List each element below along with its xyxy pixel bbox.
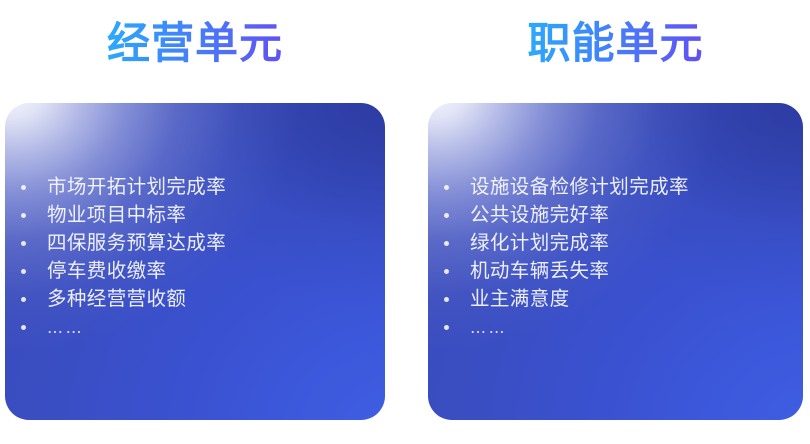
slide-canvas: 经营单元 市场开拓计划完成率 物业项目中标率 四保服务预算达成率 停车费: [0, 0, 810, 444]
card-business-unit: 市场开拓计划完成率 物业项目中标率 四保服务预算达成率 停车费收缴率 多种经营营: [5, 103, 385, 420]
bullet-dot-icon: [21, 325, 26, 330]
bullet-dot-icon: [21, 241, 26, 246]
list-item: 物业项目中标率: [21, 201, 375, 229]
metric-list-business-unit: 市场开拓计划完成率 物业项目中标率 四保服务预算达成率 停车费收缴率 多种经营营: [21, 173, 375, 341]
list-item: 机动车辆丢失率: [444, 257, 793, 285]
metric-label: 市场开拓计划完成率: [47, 173, 226, 201]
bullet-dot-icon: [444, 241, 449, 246]
metric-label: 停车费收缴率: [47, 257, 166, 285]
panel-business-unit: 经营单元 市场开拓计划完成率 物业项目中标率 四保服务预算达成率 停车费: [5, 0, 385, 444]
list-item: 四保服务预算达成率: [21, 229, 375, 257]
list-item-more: ……: [21, 313, 375, 341]
metric-label-more: ……: [47, 314, 84, 342]
bullet-dot-icon: [21, 185, 26, 190]
list-item: 业主满意度: [444, 285, 793, 313]
metric-label: 机动车辆丢失率: [470, 257, 609, 285]
bullet-dot-icon: [21, 297, 26, 302]
list-item: 绿化计划完成率: [444, 229, 793, 257]
metric-label: 公共设施完好率: [470, 201, 609, 229]
list-item: 市场开拓计划完成率: [21, 173, 375, 201]
metric-label: 物业项目中标率: [47, 201, 186, 229]
metric-label: 绿化计划完成率: [470, 229, 609, 257]
card-functional-unit: 设施设备检修计划完成率 公共设施完好率 绿化计划完成率 机动车辆丢失率 业主满意: [428, 103, 803, 420]
metric-label-more: ……: [470, 314, 507, 342]
bullet-dot-icon: [21, 213, 26, 218]
bullet-dot-icon: [21, 269, 26, 274]
panel-title-functional-unit: 职能单元: [428, 16, 803, 72]
list-item: 多种经营营收额: [21, 285, 375, 313]
metric-list-functional-unit: 设施设备检修计划完成率 公共设施完好率 绿化计划完成率 机动车辆丢失率 业主满意: [444, 173, 793, 341]
bullet-dot-icon: [444, 269, 449, 274]
metric-label: 多种经营营收额: [47, 285, 186, 313]
bullet-dot-icon: [444, 297, 449, 302]
list-item: 停车费收缴率: [21, 257, 375, 285]
metric-label: 业主满意度: [470, 285, 570, 313]
bullet-dot-icon: [444, 213, 449, 218]
bullet-dot-icon: [444, 325, 449, 330]
panel-functional-unit: 职能单元 设施设备检修计划完成率 公共设施完好率 绿化计划完成率 机动车: [428, 0, 803, 444]
metric-label: 设施设备检修计划完成率: [470, 173, 689, 201]
metric-label: 四保服务预算达成率: [47, 229, 226, 257]
list-item: 设施设备检修计划完成率: [444, 173, 793, 201]
bullet-dot-icon: [444, 185, 449, 190]
panel-title-business-unit: 经营单元: [5, 16, 385, 72]
list-item: 公共设施完好率: [444, 201, 793, 229]
list-item-more: ……: [444, 313, 793, 341]
